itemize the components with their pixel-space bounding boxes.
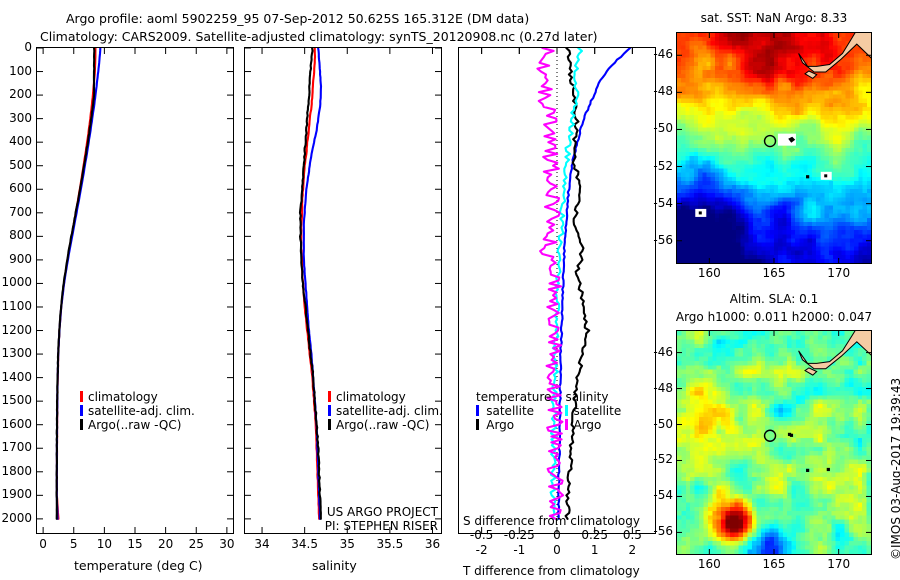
sla-lat--46: -46 xyxy=(643,345,673,359)
legend-swatch-sal-argo xyxy=(565,419,568,430)
legend-swatch-climatology xyxy=(328,391,331,402)
legend-label: Argo(..raw -QC) xyxy=(88,418,181,432)
depth-tick-600: 600 xyxy=(0,181,32,195)
legend-item: satellite-adj. clim. xyxy=(328,404,443,418)
legend-item: climatology xyxy=(328,390,443,404)
sla-map-panel xyxy=(676,330,872,555)
profile-legend-middle: climatology satellite-adj. clim. Argo(..… xyxy=(328,390,443,432)
temperature-plot-area xyxy=(37,48,233,533)
salinity-tick-35.5: 35.5 xyxy=(370,537,410,551)
legend-swatch-temp-argo xyxy=(476,419,479,430)
legend-item: satellite-adj. clim. xyxy=(80,404,195,418)
difference-t-axis-label: T difference from climatology xyxy=(463,564,640,578)
legend-swatch-climatology xyxy=(80,391,83,402)
tdiff-tick--1: -1 xyxy=(499,543,539,557)
sla-lon-170: 170 xyxy=(819,557,859,571)
depth-tick-1200: 1200 xyxy=(0,323,32,337)
sla-lat--50: -50 xyxy=(643,417,673,431)
sla-lat--56: -56 xyxy=(643,524,673,538)
page-title-line1: Argo profile: aoml 5902259_95 07-Sep-201… xyxy=(66,11,529,26)
tdiff-tick-1: 1 xyxy=(575,543,615,557)
depth-tick-800: 800 xyxy=(0,228,32,242)
sla-lon-165: 165 xyxy=(754,557,794,571)
sla-lat--52: -52 xyxy=(643,452,673,466)
sst-lon-165: 165 xyxy=(754,266,794,280)
temperature-tick-30: 30 xyxy=(207,537,247,551)
depth-tick-1000: 1000 xyxy=(0,275,32,289)
tdiff-tick-2: 2 xyxy=(612,543,652,557)
sst-map-image xyxy=(677,33,871,263)
legend-swatch-satellite-clim xyxy=(80,405,83,416)
sst-lat--54: -54 xyxy=(643,196,673,210)
sla-map-image xyxy=(677,331,871,554)
depth-tick-1100: 1100 xyxy=(0,299,32,313)
sst-lat--52: -52 xyxy=(643,159,673,173)
sst-lat--50: -50 xyxy=(643,121,673,135)
legend-swatch-argo xyxy=(328,419,331,430)
profile-legend-left: climatology satellite-adj. clim. Argo(..… xyxy=(80,390,195,432)
sla-lat--48: -48 xyxy=(643,381,673,395)
sst-lon-170: 170 xyxy=(819,266,859,280)
depth-tick-1800: 1800 xyxy=(0,464,32,478)
legend-swatch-argo xyxy=(80,419,83,430)
difference-plot-area xyxy=(459,48,655,533)
depth-tick-1700: 1700 xyxy=(0,440,32,454)
sst-lat--48: -48 xyxy=(643,84,673,98)
tdiff-tick--2: -2 xyxy=(462,543,502,557)
sst-lat--46: -46 xyxy=(643,47,673,61)
salinity-panel xyxy=(244,47,442,534)
sla-map-title-line2: Argo h1000: 0.011 h2000: 0.047 xyxy=(664,310,884,324)
salinity-tick-34.5: 34.5 xyxy=(285,537,325,551)
depth-tick-100: 100 xyxy=(0,64,32,78)
depth-tick-900: 900 xyxy=(0,252,32,266)
depth-tick-400: 400 xyxy=(0,134,32,148)
legend-item: Argo(..raw -QC) xyxy=(80,418,195,432)
legend-label: satellite xyxy=(486,404,565,418)
legend-label: Argo(..raw -QC) xyxy=(336,418,429,432)
legend-item: Argo(..raw -QC) xyxy=(328,418,443,432)
difference-s-axis-label: S difference from climatology xyxy=(463,514,640,528)
salinity-tick-35: 35 xyxy=(327,537,367,551)
credits-block: US ARGO PROJECT PI: STEPHEN RISER xyxy=(300,505,438,533)
depth-tick-500: 500 xyxy=(0,158,32,172)
salinity-plot-area xyxy=(245,48,441,533)
credit-project: US ARGO PROJECT xyxy=(300,505,438,519)
depth-tick-1600: 1600 xyxy=(0,417,32,431)
page-title-line2: Climatology: CARS2009. Satellite-adjuste… xyxy=(40,29,597,44)
temperature-x-axis-label: temperature (deg C) xyxy=(74,558,203,573)
legend-item: climatology xyxy=(80,390,195,404)
depth-tick-1900: 1900 xyxy=(0,487,32,501)
legend-swatch-temp-satellite xyxy=(476,405,479,416)
depth-tick-700: 700 xyxy=(0,205,32,219)
legend-label: climatology xyxy=(336,390,406,404)
tdiff-tick-0: 0 xyxy=(537,543,577,557)
sst-map-title: sat. SST: NaN Argo: 8.33 xyxy=(676,11,872,25)
salinity-x-axis-label: salinity xyxy=(312,558,357,573)
credit-pi: PI: STEPHEN RISER xyxy=(300,519,438,533)
depth-tick-0: 0 xyxy=(0,40,32,54)
legend-header-salinity: salinity xyxy=(565,390,621,404)
difference-legend: temperature salinity satellite satellite… xyxy=(476,390,621,432)
legend-label: satellite-adj. clim. xyxy=(336,404,443,418)
legend-label: climatology xyxy=(88,390,158,404)
depth-tick-1400: 1400 xyxy=(0,370,32,384)
sst-map-panel xyxy=(676,32,872,264)
legend-label: satellite xyxy=(573,404,621,418)
depth-tick-1300: 1300 xyxy=(0,346,32,360)
depth-tick-200: 200 xyxy=(0,87,32,101)
legend-swatch-satellite-clim xyxy=(328,405,331,416)
salinity-tick-36: 36 xyxy=(412,537,452,551)
sst-lat--56: -56 xyxy=(643,233,673,247)
legend-header-temperature: temperature xyxy=(476,390,565,404)
temperature-panel xyxy=(36,47,234,534)
sla-lat--54: -54 xyxy=(643,488,673,502)
difference-panel xyxy=(458,47,656,534)
legend-label: Argo xyxy=(573,418,621,432)
legend-label: satellite-adj. clim. xyxy=(88,404,195,418)
depth-tick-300: 300 xyxy=(0,111,32,125)
legend-label: Argo xyxy=(486,418,565,432)
sst-lon-160: 160 xyxy=(689,266,729,280)
sla-lon-160: 160 xyxy=(689,557,729,571)
depth-tick-2000: 2000 xyxy=(0,511,32,525)
legend-swatch-sal-satellite xyxy=(565,405,568,416)
salinity-tick-34: 34 xyxy=(242,537,282,551)
imos-credit: ©IMOS 03-Aug-2017 19:39:43 xyxy=(889,378,900,560)
sla-map-title-line1: Altim. SLA: 0.1 xyxy=(676,292,872,306)
depth-tick-1500: 1500 xyxy=(0,393,32,407)
